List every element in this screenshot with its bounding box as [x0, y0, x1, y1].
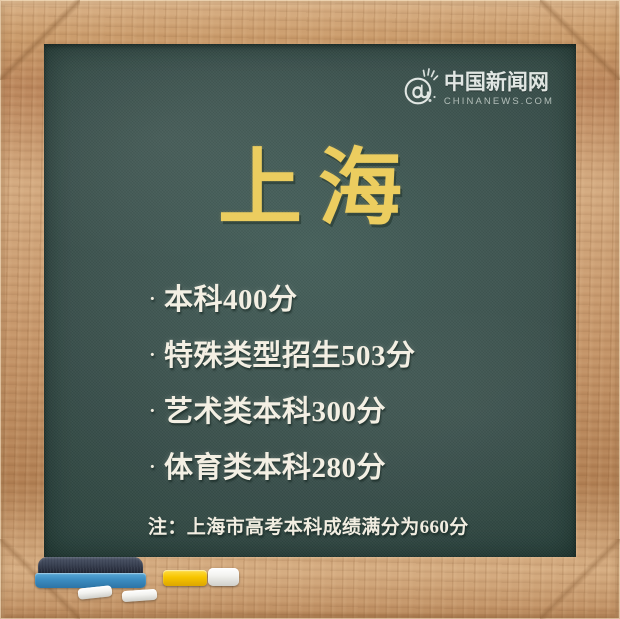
- white-chalk-block[interactable]: [208, 568, 239, 586]
- at-circle-icon: [403, 67, 439, 107]
- blackboard-eraser[interactable]: [35, 557, 146, 588]
- yellow-chalk-stick[interactable]: [163, 570, 207, 586]
- score-line-label: 艺术类本科300分: [164, 388, 386, 430]
- list-item: · 体育类本科280分: [148, 444, 416, 500]
- score-line-label: 特殊类型招生503分: [164, 332, 416, 374]
- score-list: · 本科400分 · 特殊类型招生503分 · 艺术类本科300分 · 体育类本…: [148, 276, 416, 500]
- score-line-label: 本科400分: [164, 276, 298, 318]
- chalkboard-poster: 中国新闻网 CHINANEWS.COM 上海 · 本科400分 · 特殊类型招生…: [0, 0, 620, 619]
- chalkboard-surface: 中国新闻网 CHINANEWS.COM 上海 · 本科400分 · 特殊类型招生…: [44, 44, 576, 557]
- logo-name-cn: 中国新闻网: [444, 72, 554, 93]
- eraser-base: [35, 573, 146, 588]
- bullet-dot-icon: ·: [148, 342, 164, 368]
- bullet-dot-icon: ·: [148, 454, 164, 480]
- list-item: · 艺术类本科300分: [148, 388, 416, 444]
- footnote: 注：上海市高考本科成绩满分为660分: [148, 512, 469, 539]
- bullet-dot-icon: ·: [148, 398, 164, 424]
- list-item: · 本科400分: [148, 276, 416, 332]
- chinanews-logo: 中国新闻网 CHINANEWS.COM: [403, 67, 554, 107]
- white-chalk-stick[interactable]: [78, 585, 113, 599]
- page-title: 上海: [44, 148, 576, 232]
- logo-name-en: CHINANEWS.COM: [444, 97, 554, 107]
- list-item: · 特殊类型招生503分: [148, 332, 416, 388]
- white-chalk-stick[interactable]: [122, 589, 158, 602]
- logo-wordmark: 中国新闻网 CHINANEWS.COM: [444, 67, 554, 107]
- bullet-dot-icon: ·: [148, 286, 164, 312]
- score-line-label: 体育类本科280分: [164, 444, 386, 486]
